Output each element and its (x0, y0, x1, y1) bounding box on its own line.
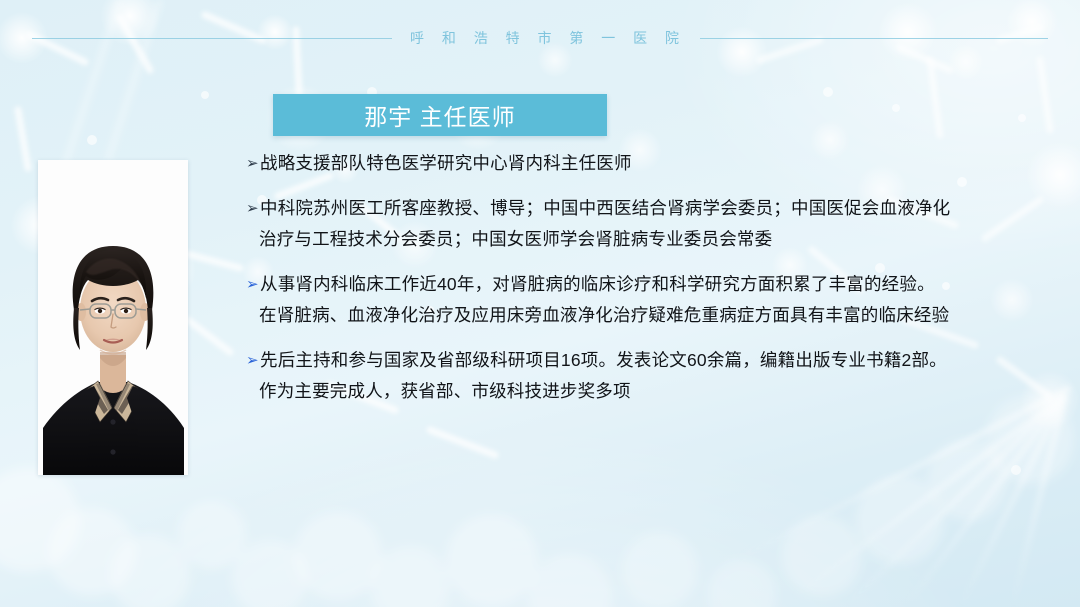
doctor-name-and-rank: 那宇 主任医师 (364, 98, 515, 132)
bio-bullet-line: ➢ 战略支援部队特色医学研究中心肾内科主任医师 (246, 148, 1064, 179)
bio-text: 从事肾内科临床工作近40年，对肾脏病的临床诊疗和科学研究方面积累了丰富的经验。 (260, 269, 1064, 300)
hospital-name: 呼 和 浩 特 市 第 一 医 院 (406, 28, 686, 48)
doctor-biography: ➢ 战略支援部队特色医学研究中心肾内科主任医师 ➢ 中科院苏州医工所客座教授、博… (246, 148, 1064, 421)
bio-continuation-line: 治疗与工程技术分会委员；中国女医师学会肾脏病专业委员会常委 (246, 224, 1064, 255)
bio-block: ➢ 中科院苏州医工所客座教授、博导；中国中西医结合肾病学会委员；中国医促会血液净… (246, 193, 1064, 255)
bio-text: 战略支援部队特色医学研究中心肾内科主任医师 (260, 148, 1064, 179)
bio-bullet-line: ➢ 先后主持和参与国家及省部级科研项目16项。发表论文60余篇，编籍出版专业书籍… (246, 345, 1064, 376)
arrow-bullet-icon: ➢ (246, 148, 259, 179)
bio-text: 在肾脏病、血液净化治疗及应用床旁血液净化治疗疑难危重病症方面具有丰富的临床经验 (259, 300, 1064, 331)
bio-block: ➢ 先后主持和参与国家及省部级科研项目16项。发表论文60余篇，编籍出版专业书籍… (246, 345, 1064, 407)
header-rule-right-icon (700, 38, 1048, 39)
arrow-bullet-icon: ➢ (246, 345, 259, 376)
bio-text: 作为主要完成人，获省部、市级科技进步奖多项 (259, 376, 1064, 407)
doctor-title-banner: 那宇 主任医师 (273, 94, 607, 136)
slide-header: 呼 和 浩 特 市 第 一 医 院 (0, 24, 1080, 52)
arrow-bullet-icon: ➢ (246, 269, 259, 300)
bio-continuation-line: 作为主要完成人，获省部、市级科技进步奖多项 (246, 376, 1064, 407)
bio-text: 先后主持和参与国家及省部级科研项目16项。发表论文60余篇，编籍出版专业书籍2部… (260, 345, 1064, 376)
bio-block: ➢ 从事肾内科临床工作近40年，对肾脏病的临床诊疗和科学研究方面积累了丰富的经验… (246, 269, 1064, 331)
bio-continuation-line: 在肾脏病、血液净化治疗及应用床旁血液净化治疗疑难危重病症方面具有丰富的临床经验 (246, 300, 1064, 331)
arrow-bullet-icon: ➢ (246, 193, 259, 224)
bio-text: 治疗与工程技术分会委员；中国女医师学会肾脏病专业委员会常委 (259, 224, 1064, 255)
presentation-slide: 呼 和 浩 特 市 第 一 医 院 (0, 0, 1080, 607)
bio-bullet-line: ➢ 中科院苏州医工所客座教授、博导；中国中西医结合肾病学会委员；中国医促会血液净… (246, 193, 1064, 224)
header-rule-left-icon (32, 38, 392, 39)
bio-block: ➢ 战略支援部队特色医学研究中心肾内科主任医师 (246, 148, 1064, 179)
doctor-portrait-photo (38, 160, 188, 475)
bio-text: 中科院苏州医工所客座教授、博导；中国中西医结合肾病学会委员；中国医促会血液净化 (260, 193, 1064, 224)
bio-bullet-line: ➢ 从事肾内科临床工作近40年，对肾脏病的临床诊疗和科学研究方面积累了丰富的经验… (246, 269, 1064, 300)
